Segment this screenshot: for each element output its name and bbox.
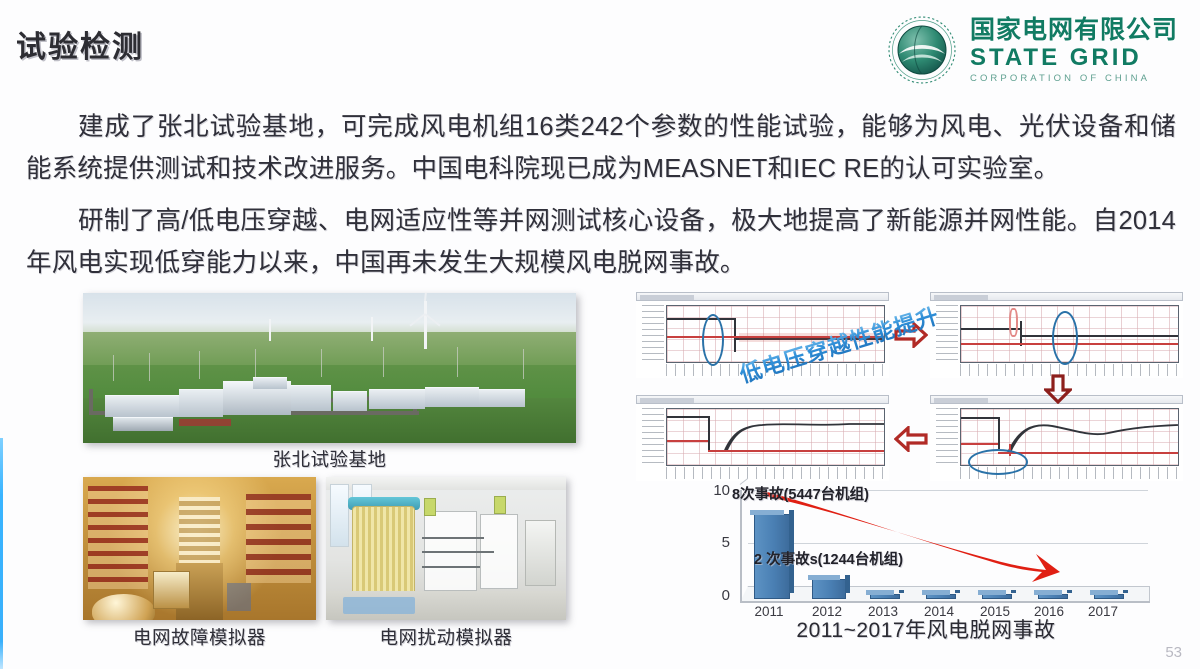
annotation-2011: 8次事故(5447台机组) — [732, 483, 869, 504]
page-title: 试验检测 — [16, 22, 144, 66]
insulator-rack-left — [88, 486, 149, 589]
arrow-left-icon — [894, 426, 928, 457]
brand-wordmark: 国家电网有限公司 STATE GRID CORPORATION OF CHINA — [970, 16, 1178, 84]
accidents-bar-chart: 10 5 0 8次事故(5447台机组) 2 次事故s(12 — [676, 482, 1176, 637]
slide-canvas: 试验检测 — [0, 0, 1200, 669]
y-tick-label: 0 — [704, 587, 730, 604]
highlight-ellipse — [1052, 311, 1078, 365]
y-tick-label: 10 — [704, 482, 730, 499]
waveform-panel-top-right — [930, 292, 1183, 378]
state-grid-globe-icon — [886, 14, 958, 86]
bar-2013 — [870, 594, 900, 599]
annotation-2012: 2 次事故s(1244台机组) — [754, 548, 903, 569]
photo-zhangbei-base — [83, 293, 576, 443]
photo-sky — [83, 293, 576, 335]
brand-logo-block: 国家电网有限公司 STATE GRID CORPORATION OF CHINA — [886, 14, 1178, 86]
caption-grid-fault-simulator: 电网故障模拟器 — [83, 624, 316, 650]
body-paragraph-1: 建成了张北试验基地，可完成风电机组16类242个参数的性能试验，能够为风电、光伏… — [26, 106, 1176, 190]
reactor-cylinder — [352, 506, 414, 600]
highlight-ellipse — [968, 449, 1028, 475]
y-axis-ticks — [936, 305, 958, 363]
photo-grid-fault-simulator — [83, 477, 316, 620]
bar-2017 — [1094, 594, 1124, 599]
chart-title: 2011~2017年风电脱网事故 — [676, 614, 1176, 644]
wind-turbine-tower — [424, 301, 427, 349]
y-axis-ticks — [642, 408, 664, 466]
highlight-ellipse — [702, 314, 724, 366]
panel-titlebar — [930, 292, 1183, 301]
x-axis-ticks — [666, 467, 885, 479]
panel-titlebar — [636, 292, 889, 301]
insulator-rack-right — [246, 494, 311, 583]
bar-2012 — [812, 579, 846, 599]
brand-name-en: STATE GRID — [970, 46, 1178, 70]
body-paragraph-2: 研制了高/低电压穿越、电网适应性等并网测试核心设备，极大地提高了新能源并网性能。… — [26, 200, 1176, 284]
caption-zhangbei-base: 张北试验基地 — [83, 446, 576, 472]
y-axis-ticks — [642, 305, 664, 363]
y-axis-line — [740, 490, 742, 602]
photo-field-far — [83, 332, 576, 368]
bar-2014 — [926, 594, 956, 599]
bar-2015 — [982, 594, 1012, 599]
panel-plot — [666, 408, 885, 466]
spherical-electrode — [92, 594, 155, 620]
panel-titlebar — [636, 395, 889, 404]
y-tick-label: 5 — [704, 534, 730, 551]
brand-subtitle-en: CORPORATION OF CHINA — [970, 74, 1178, 84]
page-number: 53 — [1165, 644, 1182, 661]
y-axis-ticks — [936, 408, 958, 466]
left-accent-rule — [0, 438, 3, 669]
caption-grid-disturbance-simulator: 电网扰动模拟器 — [326, 624, 566, 650]
brand-name-cn: 国家电网有限公司 — [970, 18, 1178, 43]
arrow-down-icon — [1044, 374, 1072, 409]
photo-grid-disturbance-simulator — [326, 477, 566, 620]
waveform-panel-bottom-left — [636, 395, 889, 481]
x-axis-line — [740, 601, 1150, 603]
insulator-stack-center — [179, 497, 221, 569]
bar-2016 — [1038, 594, 1068, 599]
